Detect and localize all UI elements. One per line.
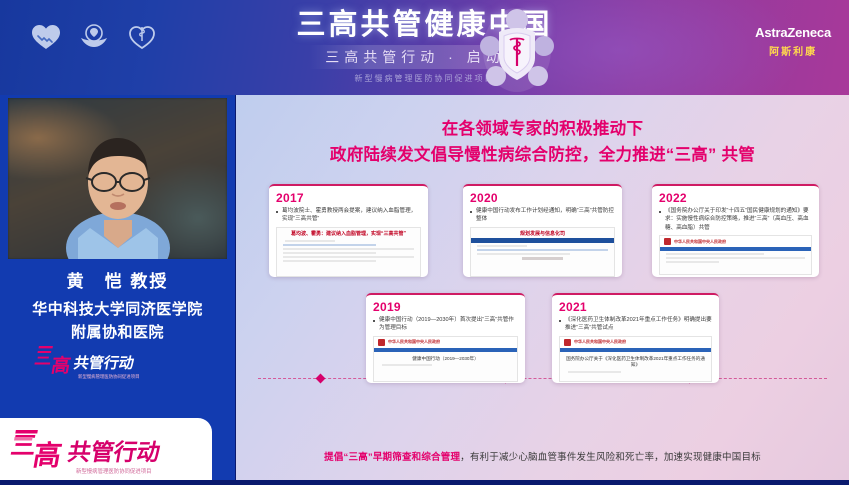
speaker-affiliation-line1: 华中科技大学同济医学院: [0, 298, 235, 321]
timeline-axis: [258, 378, 827, 379]
screenshot-gov-header: 中华人民共和国中央人民政府: [660, 236, 811, 247]
timeline-card-2019[interactable]: 2019 健康中国行动（2019—2030年）首次提出“三高”共管作为管理目标 …: [366, 293, 525, 383]
screenshot-gov-header: 中华人民共和国中央人民政府: [560, 337, 711, 348]
header-title-group: 三高共管健康中国 三高共管行动 · 启动会 新型慢病管理医防协同促进项目: [0, 8, 849, 84]
gov-emblem-icon: [378, 339, 385, 346]
screenshot-navbar: [560, 348, 711, 352]
program-brand-logo-box: 三 高 共管行动 新型慢病管理医防协同促进项目: [0, 418, 212, 480]
screenshot-line: [283, 252, 376, 254]
slide-title-line2: 政府陆续发文倡导慢性病综合防控，全力推进“三高” 共管: [236, 143, 849, 169]
astrazeneca-wordmark: AstraZeneca: [755, 25, 831, 40]
slide-title: 在各领域专家的积极推动下 政府陆续发文倡导慢性病综合防控，全力推进“三高” 共管: [236, 117, 849, 168]
card-text: 健康中国行动（2019—2030年）首次提出“三高”共管作为管理目标: [373, 316, 518, 333]
speaker-video-feed[interactable]: [8, 98, 227, 259]
card-text: 《深化医药卫生体制改革2021年重点工作任务》明确提出要推进“三高”共管试点: [559, 316, 712, 333]
program-brand-logo: 三 高 共管行动 新型慢病管理医防协同促进项目: [0, 418, 212, 480]
card-screenshot: 中华人民共和国中央人民政府 健康中国行动（2019—2030年）: [373, 336, 518, 382]
svg-text:共管行动: 共管行动: [72, 354, 135, 372]
screenshot-heading: 中华人民共和国中央人民政府: [574, 339, 626, 345]
gov-emblem-icon: [564, 339, 571, 346]
card-text: 健康中国行动发布工作计划经通知，明确“三高”共管防控整体: [470, 207, 615, 224]
screenshot-line: [283, 248, 414, 250]
program-brand-logo-small: 三 高 共管行动 新型慢病管理医防协同促进项目: [34, 340, 154, 382]
screenshot-footer-line: [522, 257, 562, 260]
astrazeneca-name-cn: 阿斯利康: [755, 43, 831, 58]
screenshot-navbar: [471, 238, 614, 243]
card-screenshot: 葛均波、霍勇：建议纳入血脂管理，实现“三高共管”: [276, 227, 421, 277]
card-text: 葛均波院士、霍勇教授两会提案，建议纳入血脂管理，实现“三高共管”: [276, 207, 421, 224]
timeline-card-2020[interactable]: 2020 健康中国行动发布工作计划经通知，明确“三高”共管防控整体 规划发展与信…: [463, 184, 622, 277]
card-year: 2019: [373, 300, 525, 314]
card-year: 2020: [470, 191, 622, 205]
card-screenshot: 规划发展与信息化司: [470, 227, 615, 277]
svg-text:新型慢病管理医防协同促进项目: 新型慢病管理医防协同促进项目: [76, 467, 151, 475]
screenshot-line: [666, 261, 719, 263]
timeline-card-2017[interactable]: 2017 葛均波院士、霍勇教授两会提案，建议纳入血脂管理，实现“三高共管” 葛均…: [269, 184, 428, 277]
speaker-portrait: [54, 120, 182, 259]
card-screenshot: 中华人民共和国中央人民政府: [659, 235, 812, 275]
screenshot-line: [283, 256, 414, 258]
timeline-card-2021[interactable]: 2021 《深化医药卫生体制改革2021年重点工作任务》明确提出要推进“三高”共…: [552, 293, 719, 383]
screenshot-navbar: [374, 348, 517, 352]
screenshot-subtitle: 国务院办公厅关于《深化医药卫生体制改革2021年重点工作任务的通知》: [566, 356, 705, 369]
speaker-name: 黄 恺 教授: [0, 267, 235, 292]
screenshot-navbar: [660, 247, 811, 251]
shield-caduceus-emblem-icon: [472, 6, 562, 94]
screenshot-line: [283, 260, 376, 262]
screenshot-gov-header: 中华人民共和国中央人民政府: [374, 337, 517, 348]
screenshot-line: [477, 249, 608, 251]
timeline-node-2019: [316, 374, 326, 384]
svg-text:新型慢病管理医防协同促进项目: 新型慢病管理医防协同促进项目: [78, 373, 139, 380]
left-panel: 黄 恺 教授 华中科技大学同济医学院 附属协和医院 三 高 共管行动 新型慢病管…: [0, 95, 235, 480]
screenshot-line: [477, 245, 527, 247]
card-screenshot: 中华人民共和国中央人民政府 国务院办公厅关于《深化医药卫生体制改革2021年重点…: [559, 336, 712, 382]
conclusion-rest: ，有利于减少心脑血管事件发生风险和死亡率，加速实现健康中国目标: [460, 452, 761, 463]
header-banner: 三高共管健康中国 三高共管行动 · 启动会 新型慢病管理医防协同促进项目 Ast…: [0, 0, 849, 95]
astrazeneca-logo: AstraZeneca 阿斯利康: [755, 24, 831, 58]
conclusion-highlight: 提倡“三高”早期筛查和综合管理: [324, 452, 460, 463]
svg-text:高: 高: [31, 439, 65, 471]
svg-text:高: 高: [49, 354, 72, 377]
screenshot-line: [285, 240, 335, 242]
screenshot-heading: 中华人民共和国中央人民政府: [674, 239, 726, 245]
card-year: 2021: [559, 300, 719, 314]
event-tagline: 新型慢病管理医防协同促进项目: [0, 73, 849, 84]
screenshot-line: [666, 257, 805, 259]
screenshot-line: [666, 253, 764, 255]
screenshot-heading: 葛均波、霍勇：建议纳入血脂管理，实现“三高共管”: [277, 228, 420, 238]
speaker-info: 黄 恺 教授 华中科技大学同济医学院 附属协和医院: [0, 267, 235, 345]
screenshot-line: [477, 253, 570, 255]
card-year: 2017: [276, 191, 428, 205]
event-title: 三高共管健康中国: [0, 8, 849, 42]
screenshot-line: [568, 371, 621, 373]
svg-text:共管行动: 共管行动: [66, 439, 162, 465]
screenshot-subtitle: 健康中国行动（2019—2030年）: [380, 356, 511, 362]
screenshot-heading: 中华人民共和国中央人民政府: [388, 339, 440, 345]
card-year: 2022: [659, 191, 819, 205]
screenshot-heading: 规划发展与信息化司: [471, 228, 614, 238]
card-text: 《国务院办公厅关于印发“十四五”国民健康规划的通知》要求：实施慢性病综合防控策略…: [659, 207, 812, 232]
slide-title-line1: 在各领域专家的积极推动下: [236, 117, 849, 143]
screenshot-line: [283, 244, 376, 246]
timeline-card-2022[interactable]: 2022 《国务院办公厅关于印发“十四五”国民健康规划的通知》要求：实施慢性病综…: [652, 184, 819, 277]
gov-emblem-icon: [664, 238, 671, 245]
presentation-slide: 在各领域专家的积极推动下 政府陆续发文倡导慢性病综合防控，全力推进“三高” 共管…: [236, 95, 849, 480]
slide-conclusion: 提倡“三高”早期筛查和综合管理，有利于减少心脑血管事件发生风险和死亡率，加速实现…: [236, 449, 849, 463]
screenshot-line: [382, 364, 432, 366]
